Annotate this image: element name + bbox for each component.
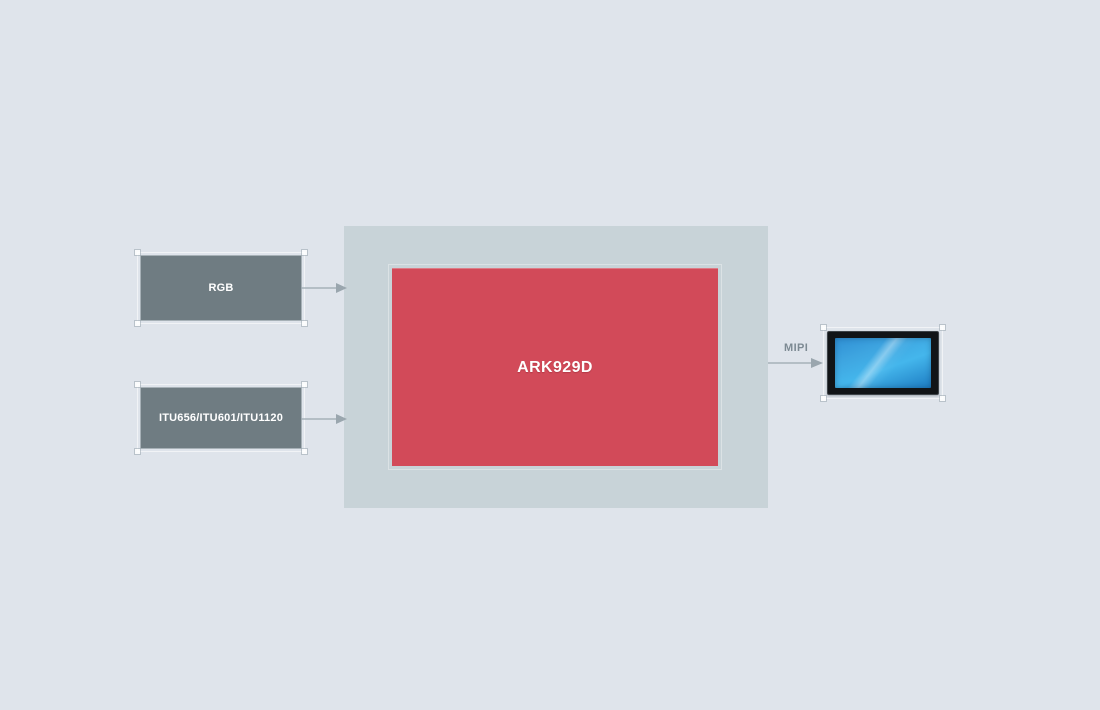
selection-handle-rgb-nw[interactable] <box>135 250 140 255</box>
node-itu-input-label: ITU656/ITU601/ITU1120 <box>159 412 283 424</box>
node-rgb-input[interactable]: RGB <box>141 256 301 320</box>
selection-handle-rgb-sw[interactable] <box>135 321 140 326</box>
connector-itu-arrowhead <box>336 414 347 424</box>
selection-handle-itu-sw[interactable] <box>135 449 140 454</box>
connector-rgb-arrowhead <box>336 283 347 293</box>
diagram-canvas[interactable]: RGB ITU656/ITU601/ITU1120 ARK929D <box>0 0 1100 710</box>
selection-handle-itu-nw[interactable] <box>135 382 140 387</box>
node-chip-die-label: ARK929D <box>517 359 593 377</box>
selection-handle-monitor-ne[interactable] <box>940 325 945 330</box>
node-rgb-input-label: RGB <box>208 282 233 294</box>
edge-label-mipi: MIPI <box>784 342 808 354</box>
node-chip-die[interactable]: ARK929D <box>392 268 718 466</box>
node-itu-input[interactable]: ITU656/ITU601/ITU1120 <box>141 388 301 448</box>
selection-handle-monitor-se[interactable] <box>940 396 945 401</box>
selection-handle-monitor-nw[interactable] <box>821 325 826 330</box>
connector-rgb-to-chip[interactable] <box>301 275 353 305</box>
connector-mipi-arrowhead <box>811 358 823 368</box>
monitor-icon[interactable] <box>827 331 939 395</box>
connector-chip-to-display[interactable] <box>768 350 830 380</box>
selection-handle-itu-se[interactable] <box>302 449 307 454</box>
selection-handle-rgb-se[interactable] <box>302 321 307 326</box>
selection-handle-monitor-sw[interactable] <box>821 396 826 401</box>
selection-handle-itu-ne[interactable] <box>302 382 307 387</box>
selection-handle-rgb-ne[interactable] <box>302 250 307 255</box>
monitor-screen <box>835 338 931 388</box>
connector-itu-to-chip[interactable] <box>301 406 353 436</box>
